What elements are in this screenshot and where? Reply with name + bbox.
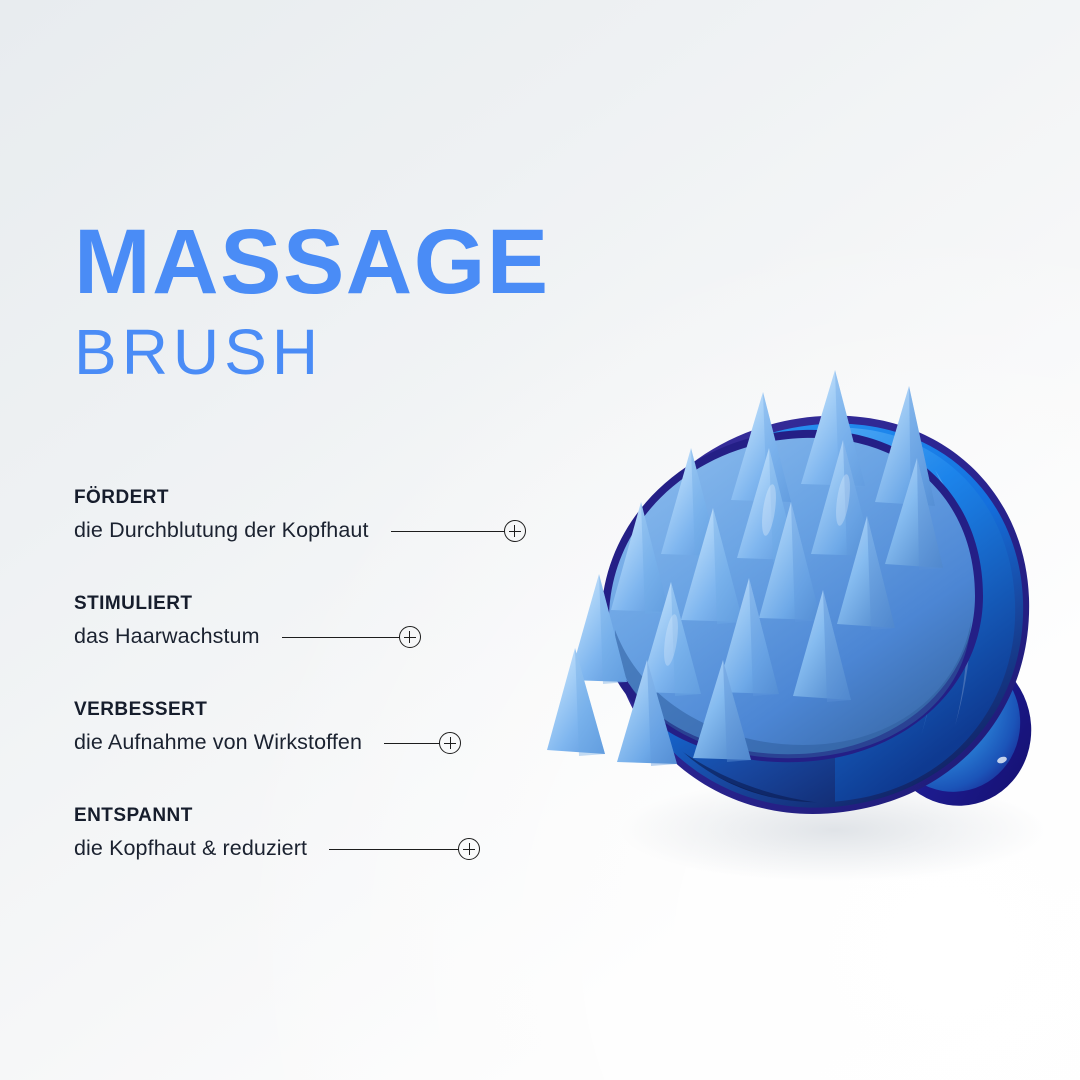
product-shadow — [620, 778, 1050, 882]
feature-item: ENTSPANNT die Kopfhaut & reduziert — [74, 806, 674, 912]
connector-line — [384, 743, 440, 744]
feature-body: die Aufnahme von Wirkstoffen — [74, 732, 362, 754]
connector-line — [391, 531, 505, 532]
product-infographic-poster: MASSAGE BRUSH FÖRDERT die Durchblutung d… — [0, 0, 1080, 1080]
page-subtitle: BRUSH — [74, 320, 550, 384]
plus-circle-icon[interactable] — [399, 626, 421, 648]
feature-connector — [391, 520, 526, 542]
feature-row: die Kopfhaut & reduziert — [74, 838, 674, 860]
feature-row: die Durchblutung der Kopfhaut — [74, 520, 674, 542]
feature-item: STIMULIERT das Haarwachstum — [74, 594, 674, 700]
feature-body: die Durchblutung der Kopfhaut — [74, 520, 369, 542]
title-block: MASSAGE BRUSH — [74, 218, 550, 384]
feature-row: die Aufnahme von Wirkstoffen — [74, 732, 674, 754]
feature-heading: STIMULIERT — [74, 594, 674, 613]
plus-circle-icon[interactable] — [439, 732, 461, 754]
feature-body: die Kopfhaut & reduziert — [74, 838, 307, 860]
feature-connector — [282, 626, 421, 648]
feature-item: VERBESSERT die Aufnahme von Wirkstoffen — [74, 700, 674, 806]
feature-item: FÖRDERT die Durchblutung der Kopfhaut — [74, 488, 674, 594]
feature-list: FÖRDERT die Durchblutung der Kopfhaut ST… — [74, 488, 674, 912]
feature-heading: ENTSPANNT — [74, 806, 674, 825]
feature-connector — [329, 838, 480, 860]
feature-connector — [384, 732, 461, 754]
feature-heading: VERBESSERT — [74, 700, 674, 719]
page-title: MASSAGE — [74, 218, 550, 306]
feature-body: das Haarwachstum — [74, 626, 260, 648]
feature-heading: FÖRDERT — [74, 488, 674, 507]
plus-circle-icon[interactable] — [504, 520, 526, 542]
connector-line — [329, 849, 459, 850]
feature-row: das Haarwachstum — [74, 626, 674, 648]
plus-circle-icon[interactable] — [458, 838, 480, 860]
connector-line — [282, 637, 400, 638]
brush-knob — [866, 634, 1047, 821]
